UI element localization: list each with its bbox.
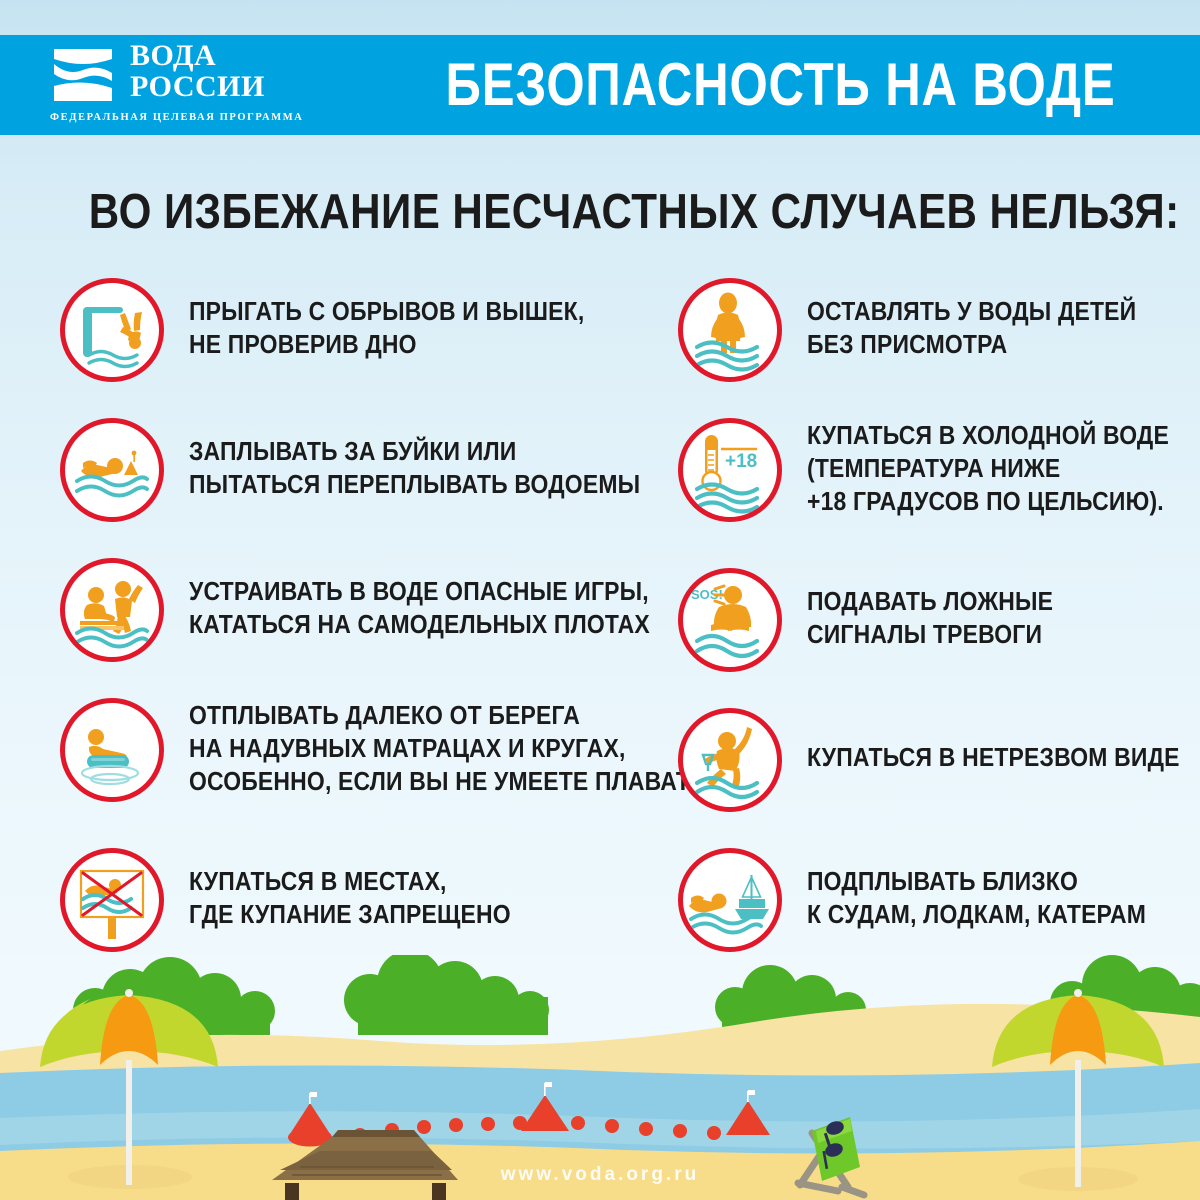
header-title-text: БЕЗОПАСНОСТЬ НА ВОДЕ	[445, 55, 1115, 115]
rules-column-right: ОСТАВЛЯТЬ У ВОДЫ ДЕТЕЙ БЕЗ ПРИСМОТРА	[678, 278, 1198, 978]
thermometer-label: +18	[725, 451, 757, 472]
inflatable-mattress-icon	[60, 698, 164, 802]
rule-item: ЗАПЛЫВАТЬ ЗА БУЙКИ ИЛИ ПЫТАТЬСЯ ПЕРЕПЛЫВ…	[60, 418, 660, 558]
rule-line: ОТПЛЫВАТЬ ДАЛЕКО ОТ БЕРЕГА	[189, 700, 707, 733]
rule-line: НЕ ПРОВЕРИВ ДНО	[189, 329, 584, 362]
rule-line: КУПАТЬСЯ В ХОЛОДНОЙ ВОДЕ	[807, 420, 1169, 453]
false-alarm-icon: SOS!	[678, 568, 782, 672]
thermometer-icon: +18	[678, 418, 782, 522]
rule-item: УСТРАИВАТЬ В ВОДЕ ОПАСНЫЕ ИГРЫ, КАТАТЬСЯ…	[60, 558, 660, 698]
rule-text: УСТРАИВАТЬ В ВОДЕ ОПАСНЫЕ ИГРЫ, КАТАТЬСЯ…	[164, 558, 701, 642]
rule-line: НА НАДУВНЫХ МАТРАЦАХ И КРУГАХ,	[189, 733, 707, 766]
logo-line-1: ВОДА	[130, 40, 265, 71]
rule-line: ОСОБЕННО, ЕСЛИ ВЫ НЕ УМЕЕТЕ ПЛАВАТЬ	[189, 766, 707, 799]
page-title-text: ВО ИЗБЕЖАНИЕ НЕСЧАСТНЫХ СЛУЧАЕВ НЕЛЬЗЯ:	[89, 186, 1180, 238]
rule-line: (ТЕМПЕРАТУРА НИЖЕ	[807, 453, 1169, 486]
rule-line: СИГНАЛЫ ТРЕВОГИ	[807, 619, 1053, 652]
swimmer-boat-icon	[678, 848, 782, 952]
rule-text: ОСТАВЛЯТЬ У ВОДЫ ДЕТЕЙ БЕЗ ПРИСМОТРА	[782, 278, 1173, 362]
rule-line: ЗАПЛЫВАТЬ ЗА БУЙКИ ИЛИ	[189, 436, 640, 469]
footer-url[interactable]: www.voda.org.ru	[0, 1164, 1200, 1186]
swimmer-buoy-icon	[60, 418, 164, 522]
rule-text: КУПАТЬСЯ В НЕТРЕЗВОМ ВИДЕ	[782, 708, 1200, 775]
wave-mark-icon	[52, 45, 114, 107]
rule-line: ПЫТАТЬСЯ ПЕРЕПЛЫВАТЬ ВОДОЕМЫ	[189, 469, 640, 502]
rule-text: ПРЫГАТЬ С ОБРЫВОВ И ВЫШЕК, НЕ ПРОВЕРИВ Д…	[164, 278, 628, 362]
rule-item: КУПАТЬСЯ В НЕТРЕЗВОМ ВИДЕ	[678, 708, 1198, 848]
rule-text: ПОДАВАТЬ ЛОЖНЫЕ СИГНАЛЫ ТРЕВОГИ	[782, 568, 1081, 652]
rule-line: К СУДАМ, ЛОДКАМ, КАТЕРАМ	[807, 899, 1146, 932]
rule-line: ПРЫГАТЬ С ОБРЫВОВ И ВЫШЕК,	[189, 296, 584, 329]
rule-text: ЗАПЛЫВАТЬ ЗА БУЙКИ ИЛИ ПЫТАТЬСЯ ПЕРЕПЛЫВ…	[164, 418, 690, 502]
no-swimming-sign-icon	[60, 848, 164, 952]
page-title: ВО ИЗБЕЖАНИЕ НЕСЧАСТНЫХ СЛУЧАЕВ НЕЛЬЗЯ:	[0, 186, 1200, 238]
rule-line: ОСТАВЛЯТЬ У ВОДЫ ДЕТЕЙ	[807, 296, 1136, 329]
rule-text: КУПАТЬСЯ В ХОЛОДНОЙ ВОДЕ (ТЕМПЕРАТУРА НИ…	[782, 418, 1200, 519]
poster-canvas: ВОДА РОССИИ ФЕДЕРАЛЬНАЯ ЦЕЛЕВАЯ ПРОГРАММ…	[0, 0, 1200, 1200]
rule-text: КУПАТЬСЯ В МЕСТАХ, ГДЕ КУПАНИЕ ЗАПРЕЩЕНО	[164, 848, 547, 932]
rule-line: ПОДАВАТЬ ЛОЖНЫЕ	[807, 586, 1053, 619]
rule-line: КАТАТЬСЯ НА САМОДЕЛЬНЫХ ПЛОТАХ	[189, 609, 650, 642]
beach-scene: www.voda.org.ru	[0, 955, 1200, 1200]
rules-column-left: ПРЫГАТЬ С ОБРЫВОВ И ВЫШЕК, НЕ ПРОВЕРИВ Д…	[60, 278, 660, 978]
rule-line: БЕЗ ПРИСМОТРА	[807, 329, 1136, 362]
rule-item: ОСТАВЛЯТЬ У ВОДЫ ДЕТЕЙ БЕЗ ПРИСМОТРА	[678, 278, 1198, 418]
rule-item: ОТПЛЫВАТЬ ДАЛЕКО ОТ БЕРЕГА НА НАДУВНЫХ М…	[60, 698, 660, 848]
header-title: БЕЗОПАСНОСТЬ НА ВОДЕ	[400, 35, 1160, 135]
child-in-water-icon	[678, 278, 782, 382]
raft-games-icon	[60, 558, 164, 662]
logo-subtitle: ФЕДЕРАЛЬНАЯ ЦЕЛЕВАЯ ПРОГРАММА	[50, 112, 303, 123]
rule-item: ПРЫГАТЬ С ОБРЫВОВ И ВЫШЕК, НЕ ПРОВЕРИВ Д…	[60, 278, 660, 418]
rule-item: +18 КУПАТЬСЯ В ХОЛОДНОЙ ВОДЕ (ТЕМПЕРАТУР…	[678, 418, 1198, 568]
rule-line: КУПАТЬСЯ В МЕСТАХ,	[189, 866, 511, 899]
rule-item: SOS!	[678, 568, 1198, 708]
rule-text: ОТПЛЫВАТЬ ДАЛЕКО ОТ БЕРЕГА НА НАДУВНЫХ М…	[164, 698, 764, 799]
rule-text: ПОДПЛЫВАТЬ БЛИЗКО К СУДАМ, ЛОДКАМ, КАТЕР…	[782, 848, 1184, 932]
rule-line: ГДЕ КУПАНИЕ ЗАПРЕЩЕНО	[189, 899, 511, 932]
rule-line: ПОДПЛЫВАТЬ БЛИЗКО	[807, 866, 1146, 899]
rule-line: +18 ГРАДУСОВ ПО ЦЕЛЬСИЮ).	[807, 486, 1169, 519]
diving-platform-icon	[60, 278, 164, 382]
brand-logo[interactable]: ВОДА РОССИИ ФЕДЕРАЛЬНАЯ ЦЕЛЕВАЯ ПРОГРАММ…	[45, 40, 375, 130]
rule-line: КУПАТЬСЯ В НЕТРЕЗВОМ ВИДЕ	[807, 742, 1180, 775]
rule-line: УСТРАИВАТЬ В ВОДЕ ОПАСНЫЕ ИГРЫ,	[189, 576, 650, 609]
drunk-swimmer-icon	[678, 708, 782, 812]
logo-line-2: РОССИИ	[130, 71, 265, 102]
